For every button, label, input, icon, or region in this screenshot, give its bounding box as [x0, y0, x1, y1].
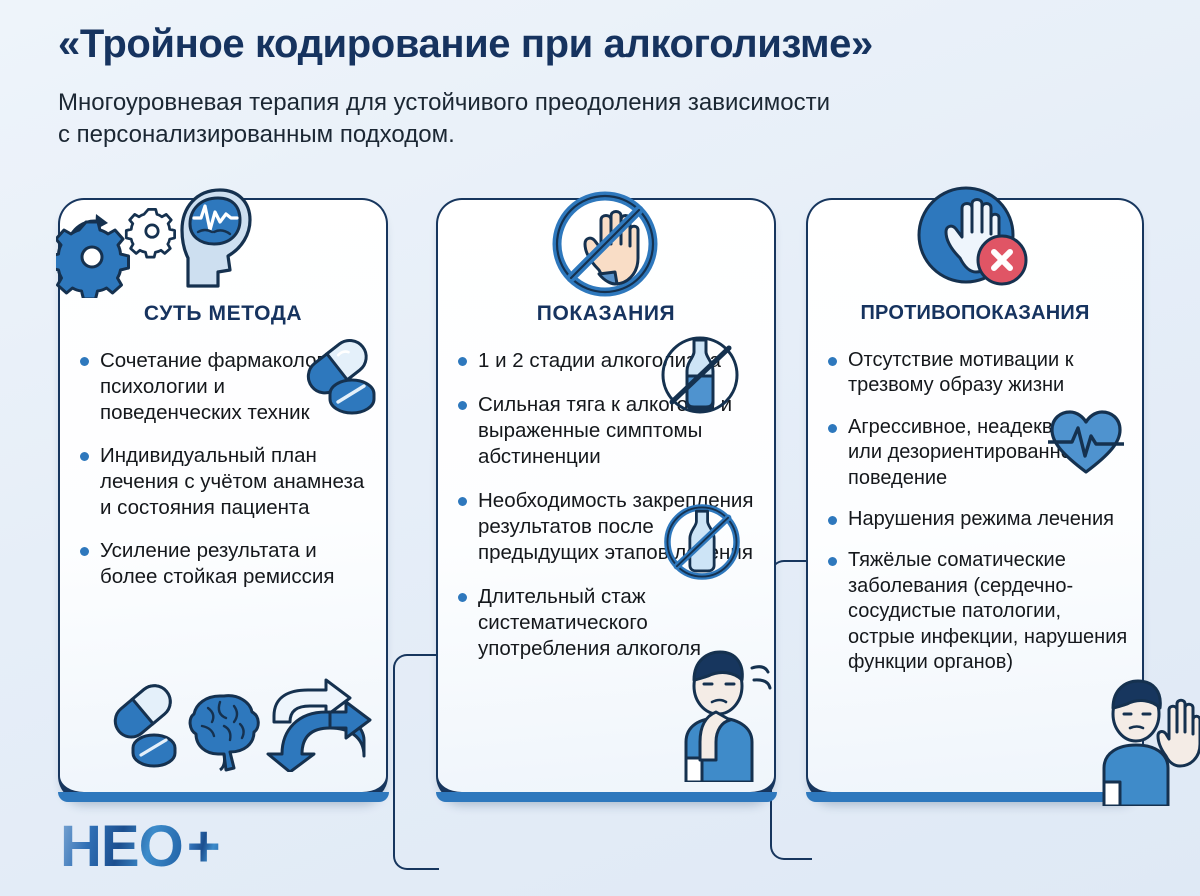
card-contraindications-bullets: Отсутствие мотивации к трезвому образу ж… — [828, 348, 1128, 691]
card-indications[interactable]: ПОКАЗАНИЯ 1 и 2 стадии алкоголизма Сильн… — [436, 198, 776, 802]
page-title: «Тройное кодирование при алкоголизме» — [58, 22, 1200, 67]
list-item: Отсутствие мотивации к трезвому образу ж… — [828, 348, 1128, 399]
card-essence-title: СУТЬ МЕТОДА — [60, 302, 386, 326]
card-indications-title: ПОКАЗАНИЯ — [438, 302, 774, 326]
list-item: Индивидуальный план лечения с учётом ана… — [80, 443, 372, 521]
cards-row: СУТЬ МЕТОДА Сочетание фармакологии, псих… — [0, 198, 1200, 808]
list-item: Нарушения режима лечения — [828, 507, 1128, 532]
brand-logo[interactable]: НЕО + — [60, 818, 220, 876]
list-item: Длительный стаж систематического употреб… — [458, 584, 760, 662]
card-essence-bullets: Сочетание фармакологии, психологии и пов… — [80, 348, 372, 607]
card-contraindications[interactable]: ПРОТИВОПОКАЗАНИЯ Отсутствие мотивации к … — [806, 198, 1144, 802]
list-item: 1 и 2 стадии алкоголизма — [458, 348, 760, 374]
list-item: Сильная тяга к алкоголю и выраженные сим… — [458, 392, 760, 470]
card-indications-bullets: 1 и 2 стадии алкоголизма Сильная тяга к … — [458, 348, 760, 680]
page-header: «Тройное кодирование при алкоголизме» Мн… — [0, 0, 1200, 150]
subtitle-line-2: с персонализированным подходом. — [58, 119, 1148, 151]
card-essence[interactable]: СУТЬ МЕТОДА Сочетание фармакологии, псих… — [58, 198, 388, 802]
list-item: Агрессивное, неадекватное или дезориенти… — [828, 415, 1128, 491]
page-subtitle: Многоуровневая терапия для устойчивого п… — [58, 87, 1148, 150]
card-contraindications-title: ПРОТИВОПОКАЗАНИЯ — [808, 302, 1142, 325]
list-item: Усиление результата и более стойкая реми… — [80, 538, 372, 590]
list-item: Сочетание фармакологии, психологии и пов… — [80, 348, 372, 426]
logo-plus-icon: + — [187, 818, 220, 876]
list-item: Необходимость закрепления результатов по… — [458, 488, 760, 566]
subtitle-line-1: Многоуровневая терапия для устойчивого п… — [58, 87, 1148, 119]
connector-card1-card2 — [393, 654, 439, 870]
logo-text: НЕО — [60, 818, 183, 876]
list-item: Тяжёлые соматические заболевания (сердеч… — [828, 548, 1128, 675]
